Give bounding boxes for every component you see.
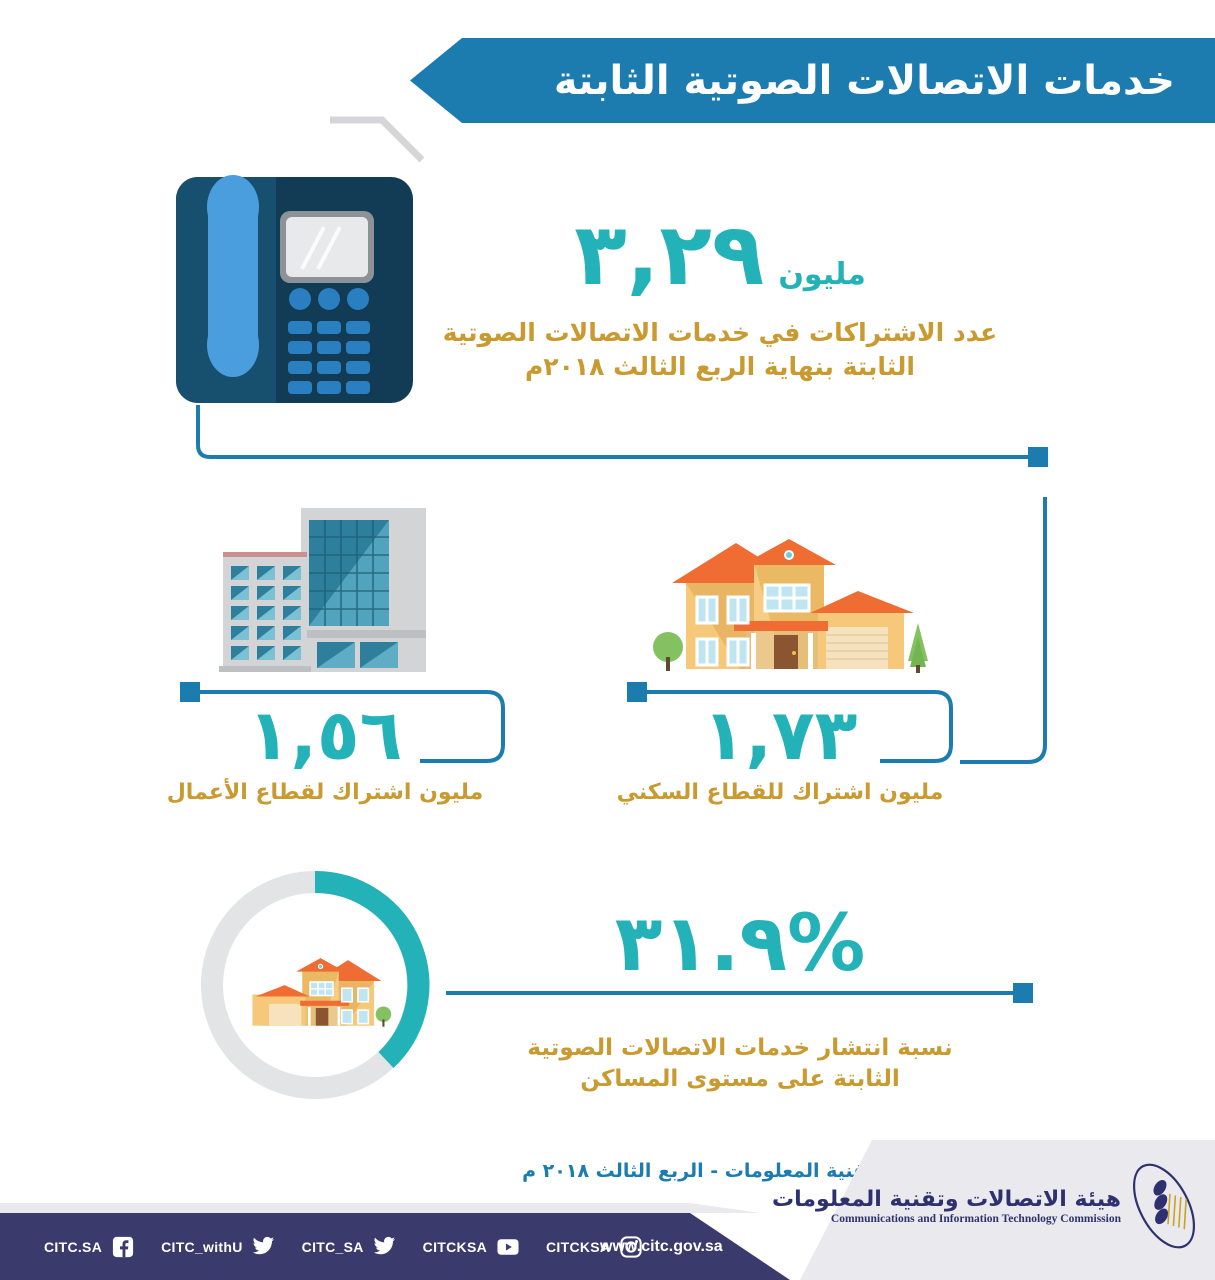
penetration-stat-caption: نسبة انتشار خدمات الاتصالات الصوتية الثا… — [455, 1033, 1025, 1095]
citc-logo: هيئة الاتصالات وتقنية المعلومات Communic… — [772, 1158, 1197, 1254]
citc-swoosh-icon — [1131, 1158, 1197, 1254]
citc-logo-arabic: هيئة الاتصالات وتقنية المعلومات — [772, 1187, 1121, 1212]
residential-stat-block: ١,٧٣ مليون اشتراك للقطاع السكني — [605, 700, 955, 808]
social-handle: CITC.SA — [44, 1239, 102, 1255]
main-stat-value-row: مليون ٣,٢٩ — [440, 212, 1000, 298]
penetration-stat-block: %٣١.٩ نسبة انتشار خدمات الاتصالات الصوتي… — [455, 905, 1025, 1095]
citc-logo-english: Communications and Information Technolog… — [772, 1213, 1121, 1225]
social-link-twitter-citc-sa[interactable]: CITC_SA — [302, 1235, 397, 1259]
page-title: خدمات الاتصالات الصوتية الثابتة — [410, 38, 1215, 123]
website-link[interactable]: www.citc.gov.sa — [600, 1213, 723, 1280]
main-stat-block: مليون ٣,٢٩ عدد الاشتراكات في خدمات الاتص… — [440, 212, 1000, 384]
business-stat-value: ١,٥٦ — [150, 700, 500, 770]
residential-stat-value: ١,٧٣ — [605, 700, 955, 770]
main-stat-caption: عدد الاشتراكات في خدمات الاتصالات الصوتي… — [440, 316, 1000, 384]
youtube-icon — [496, 1235, 520, 1259]
facebook-icon — [111, 1235, 135, 1259]
social-link-twitter-citc-withu[interactable]: CITC_withU — [161, 1235, 276, 1259]
social-link-facebook[interactable]: CITC.SA — [44, 1235, 135, 1259]
social-link-youtube[interactable]: CITCKSA — [423, 1235, 520, 1259]
desk-phone-icon — [172, 165, 417, 407]
header-banner: خدمات الاتصالات الصوتية الثابتة — [410, 38, 1215, 123]
social-handle: CITC_SA — [302, 1239, 364, 1255]
house-icon — [650, 535, 930, 685]
citc-logo-text: هيئة الاتصالات وتقنية المعلومات Communic… — [772, 1187, 1121, 1225]
twitter-icon — [373, 1235, 397, 1259]
business-stat-caption: مليون اشتراك لقطاع الأعمال — [150, 778, 500, 808]
business-stat-block: ١,٥٦ مليون اشتراك لقطاع الأعمال — [150, 700, 500, 808]
residential-stat-caption: مليون اشتراك للقطاع السكني — [605, 778, 955, 808]
social-links: CITCKSA CITCKSA CITC_SA — [44, 1213, 643, 1280]
main-stat-value: ٣,٢٩ — [574, 212, 764, 298]
office-buildings-illustration — [205, 500, 430, 680]
penetration-caption-line-1: نسبة انتشار خدمات الاتصالات الصوتية — [455, 1033, 1025, 1064]
penetration-donut-chart — [190, 860, 440, 1110]
penetration-caption-line-2: الثابتة على مستوى المساكن — [455, 1064, 1025, 1095]
penetration-stat-value: %٣١.٩ — [455, 905, 1025, 983]
infographic-canvas: خدمات الاتصالات الصوتية الثابتة — [0, 0, 1215, 1280]
footer-bar-sliver — [0, 1203, 760, 1213]
desk-phone-illustration — [172, 165, 417, 407]
twitter-icon — [252, 1235, 276, 1259]
house-illustration — [650, 535, 930, 685]
donut-house-icon — [190, 860, 440, 1110]
social-handle: CITCKSA — [423, 1239, 487, 1255]
social-handle: CITC_withU — [161, 1239, 243, 1255]
main-stat-unit: مليون — [778, 257, 865, 292]
office-buildings-icon — [205, 500, 430, 680]
